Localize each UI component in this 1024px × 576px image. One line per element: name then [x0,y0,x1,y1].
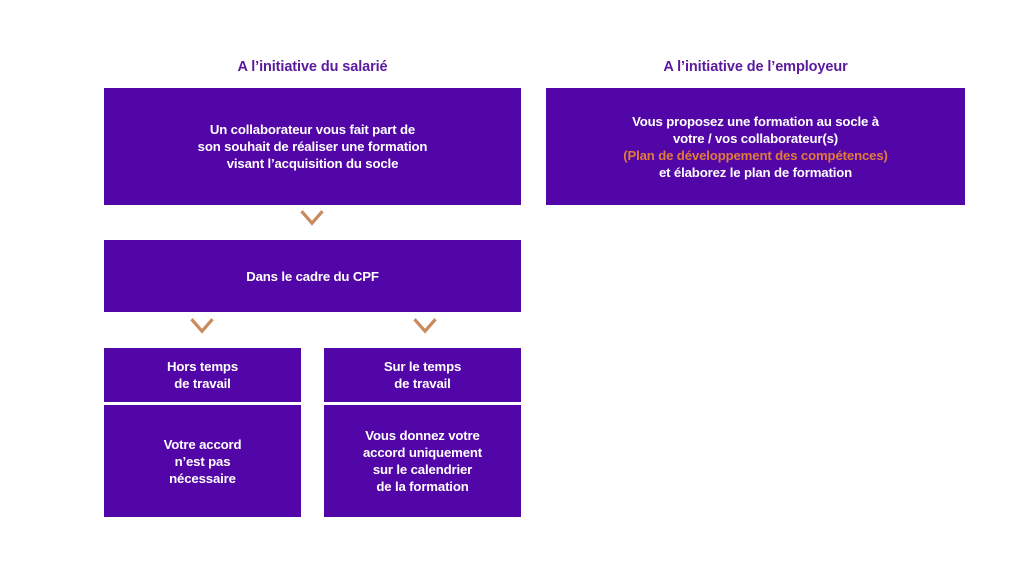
flowchart-canvas: A l’initiative du salarié A l’initiative… [0,0,1024,576]
chevron-down-icon-to-outside-worktime [189,316,215,338]
box-line: nécessaire [110,470,295,487]
box-line: de la formation [330,478,515,495]
box-line: Vous proposez une formation au socle à [552,113,959,130]
box-during-worktime-body[interactable]: Vous donnez votre accord uniquement sur … [324,405,521,517]
box-line: n’est pas [110,453,295,470]
column-heading-employer: A l’initiative de l’employeur [546,59,965,75]
box-line: et élaborez le plan de formation [552,164,959,181]
box-during-worktime-header[interactable]: Sur le temps de travail [324,348,521,402]
box-line: visant l’acquisition du socle [110,155,515,172]
box-outside-worktime-body[interactable]: Votre accord n’est pas nécessaire [104,405,301,517]
box-line: de travail [110,375,295,392]
box-line: votre / vos collaborateur(s) [552,130,959,147]
box-line: accord uniquement [330,444,515,461]
box-employer-offer[interactable]: Vous proposez une formation au socle à v… [546,88,965,205]
box-employer-offer-text: Vous proposez une formation au socle à v… [552,113,959,181]
box-outside-worktime-header[interactable]: Hors temps de travail [104,348,301,402]
box-line: Sur le temps [330,358,515,375]
box-during-worktime-header-text: Sur le temps de travail [330,358,515,392]
box-line: Hors temps [110,358,295,375]
box-line: Votre accord [110,436,295,453]
box-line: Vous donnez votre [330,427,515,444]
box-cpf-text: Dans le cadre du CPF [110,268,515,285]
box-outside-worktime-body-text: Votre accord n’est pas nécessaire [110,436,295,487]
box-line: Dans le cadre du CPF [110,268,515,285]
box-line: sur le calendrier [330,461,515,478]
chevron-down-icon-to-during-worktime [412,316,438,338]
box-cpf[interactable]: Dans le cadre du CPF [104,240,521,312]
box-line: de travail [330,375,515,392]
box-line: Un collaborateur vous fait part de [110,121,515,138]
box-line: son souhait de réaliser une formation [110,138,515,155]
box-employee-request[interactable]: Un collaborateur vous fait part de son s… [104,88,521,205]
chevron-down-icon-to-cpf [299,208,325,230]
box-employee-request-text: Un collaborateur vous fait part de son s… [110,121,515,172]
column-heading-employee: A l’initiative du salarié [104,59,521,75]
box-line-accent: (Plan de développement des compétences) [552,147,959,164]
box-during-worktime-body-text: Vous donnez votre accord uniquement sur … [330,427,515,495]
box-outside-worktime-header-text: Hors temps de travail [110,358,295,392]
